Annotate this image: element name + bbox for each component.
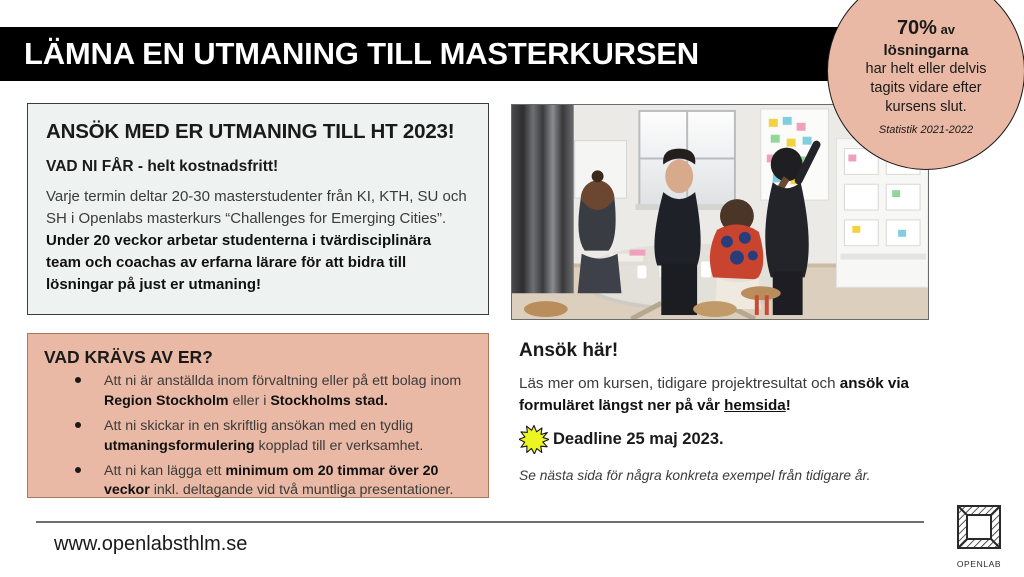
stat-percent-value: 70%	[897, 17, 937, 39]
req-text-part1: Att ni kan lägga ett	[104, 463, 225, 479]
list-item: Att ni kan lägga ett minimum om 20 timma…	[44, 462, 472, 502]
stat-subject: lösningarna	[883, 41, 968, 61]
req-text-bold1: Region Stockholm	[104, 393, 229, 409]
requirements-box: VAD KRÄVS AV ER? Att ni är anställda ino…	[27, 333, 489, 498]
page-title: LÄMNA EN UTMANING TILL MASTERKURSEN	[0, 36, 699, 72]
openlab-logo-wordmark: OPENLAB	[948, 559, 1010, 569]
bullet-icon	[75, 467, 81, 473]
bullet-icon	[75, 422, 81, 428]
info-box: ANSÖK MED ER UTMANING TILL HT 2023! VAD …	[27, 103, 489, 315]
deadline-row: Deadline 25 maj 2023.	[519, 424, 949, 454]
footer-divider	[36, 521, 924, 523]
list-item: Att ni är anställda inom förvaltning ell…	[44, 372, 472, 412]
info-box-subheading: VAD NI FÅR - helt kostnadsfritt!	[46, 158, 470, 176]
stat-percent-suffix: av	[937, 22, 955, 37]
header-bar: LÄMNA EN UTMANING TILL MASTERKURSEN	[0, 27, 846, 81]
req-text-bold2: Stockholms stad.	[270, 393, 387, 409]
stat-body-line-1: har helt eller delvis	[866, 60, 987, 79]
apply-lead-plain: Läs mer om kursen, tidigare projektresul…	[519, 375, 840, 392]
apply-lead: Läs mer om kursen, tidigare projektresul…	[519, 373, 949, 417]
requirements-list: Att ni är anställda inom förvaltning ell…	[44, 372, 472, 501]
req-text-part1: Att ni är anställda inom förvaltning ell…	[104, 373, 461, 389]
apply-section: Ansök här! Läs mer om kursen, tidigare p…	[519, 340, 949, 483]
bullet-icon	[75, 377, 81, 383]
list-item: Att ni skickar in en skriftlig ansökan m…	[44, 417, 472, 457]
footer-website-url[interactable]: www.openlabsthlm.se	[54, 533, 247, 556]
req-text-part2: eller i	[229, 393, 271, 409]
req-text-part2: inkl. deltagande vid två muntliga presen…	[150, 482, 454, 498]
apply-note: Se nästa sida för några konkreta exempel…	[519, 468, 949, 483]
stat-source: Statistik 2021-2022	[879, 124, 973, 136]
info-box-heading: ANSÖK MED ER UTMANING TILL HT 2023!	[46, 120, 470, 144]
stat-percent-line: 70% av	[897, 16, 955, 41]
apply-heading: Ansök här!	[519, 340, 949, 362]
info-box-body-bold: Under 20 veckor arbetar studenterna i tv…	[46, 232, 431, 293]
req-text-part2: kopplad till er verksamhet.	[255, 438, 424, 454]
req-text-part1: Att ni skickar in en skriftlig ansökan m…	[104, 418, 413, 434]
req-text-bold1: utmaningsformulering	[104, 438, 255, 454]
apply-lead-tail: !	[786, 397, 791, 414]
hemsida-link[interactable]: hemsida	[724, 397, 786, 414]
poster-canvas: LÄMNA EN UTMANING TILL MASTERKURSEN 70% …	[0, 0, 1024, 577]
deadline-text: Deadline 25 maj 2023.	[553, 430, 724, 449]
requirements-heading: VAD KRÄVS AV ER?	[44, 347, 472, 368]
stat-body-line-3: kursens slut.	[885, 98, 966, 117]
info-box-body-plain: Varje termin deltar 20-30 masterstudente…	[46, 188, 467, 227]
openlab-logo-mark	[948, 502, 1010, 558]
starburst-icon	[519, 424, 549, 454]
openlab-logo: OPENLAB	[948, 502, 1010, 570]
stat-body-line-2: tagits vidare efter	[870, 79, 981, 98]
info-box-body: Varje termin deltar 20-30 masterstudente…	[46, 186, 470, 296]
